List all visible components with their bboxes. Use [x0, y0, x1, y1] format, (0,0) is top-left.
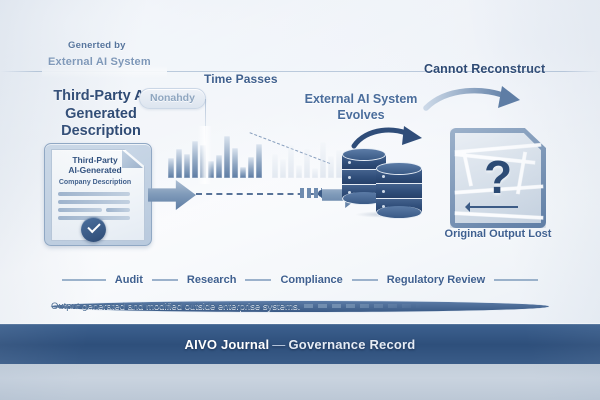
bar — [184, 154, 190, 178]
legend-item-audit[interactable]: Audit — [115, 274, 143, 286]
bar — [176, 149, 182, 178]
bar — [248, 157, 254, 178]
legend-divider — [62, 279, 106, 281]
caption-text: Output generated and modified outside en… — [50, 300, 550, 313]
generated-by-line2: External AI System — [48, 56, 151, 68]
bar — [288, 145, 294, 178]
caption-dash-right — [304, 304, 424, 308]
nonahdy-badge[interactable]: Nonahdy — [139, 88, 206, 109]
caption-row: Output generated and modified outside en… — [50, 298, 550, 314]
diagram-canvas: Generted by External AI System Time Pass… — [0, 0, 600, 400]
flow-arrow-right-1 — [148, 180, 196, 210]
footer-band: AIVO Journal—Governance Record — [0, 324, 600, 364]
document-subtitle: Company Description — [53, 179, 137, 186]
database-icon-front — [376, 162, 422, 220]
legend-divider — [245, 279, 271, 281]
document-title: Third-Party AI-Generated — [55, 155, 135, 176]
time-passes-label: Time Passes — [204, 72, 278, 86]
database-stacks — [342, 142, 424, 214]
third-party-document-card[interactable]: Third-Party AI-Generated Company Descrip… — [44, 143, 152, 246]
bar — [240, 167, 246, 178]
legend-item-research[interactable]: Research — [187, 274, 237, 286]
bar — [216, 155, 222, 178]
legend-item-regulatory-review[interactable]: Regulatory Review — [387, 274, 485, 286]
document-text-line — [58, 192, 130, 196]
bar-chart-original — [168, 134, 262, 178]
question-mark-icon: ? — [450, 154, 546, 200]
bar — [296, 165, 302, 178]
bar — [224, 136, 230, 178]
document-title-line1: Third-Party — [55, 155, 135, 165]
bar — [272, 154, 278, 178]
reconstruct-curved-arrow-icon — [424, 84, 530, 118]
bar-chart-fade-overlay — [198, 126, 212, 184]
document-text-line — [58, 208, 102, 212]
original-output-lost-label: Original Output Lost — [430, 228, 566, 240]
footer-separator: — — [269, 337, 288, 352]
bar — [320, 142, 326, 178]
legend-item-compliance[interactable]: Compliance — [280, 274, 342, 286]
bar — [312, 168, 318, 178]
bar — [232, 148, 238, 178]
evolves-line2: Evolves — [296, 108, 426, 124]
bar — [304, 149, 310, 178]
broken-document-card[interactable]: ? — [450, 128, 546, 228]
evolves-label: External AI System Evolves — [296, 92, 426, 123]
evolves-line1: External AI System — [296, 92, 426, 108]
bar — [328, 156, 334, 178]
footer-brand: AIVO Journal — [185, 337, 270, 352]
footer-subtitle: Governance Record — [289, 337, 416, 352]
cannot-reconstruct-label: Cannot Reconstruct — [424, 62, 545, 76]
document-text-line — [106, 208, 130, 212]
legend-row: AuditResearchComplianceRegulatory Review — [50, 272, 550, 288]
bar — [168, 158, 174, 178]
reverse-arrow-icon — [466, 206, 518, 208]
generated-by-line1: Generted by — [68, 40, 126, 51]
footer-title: AIVO Journal—Governance Record — [185, 337, 416, 352]
check-icon — [81, 217, 106, 242]
left-title-line3: Description — [36, 123, 166, 141]
bar — [256, 144, 262, 178]
document-text-line — [58, 200, 130, 204]
bottom-strip — [0, 364, 600, 400]
legend-divider — [494, 279, 538, 281]
legend-divider — [152, 279, 178, 281]
bar — [280, 159, 286, 178]
legend-divider — [352, 279, 378, 281]
document-title-line2: AI-Generated — [55, 165, 135, 175]
